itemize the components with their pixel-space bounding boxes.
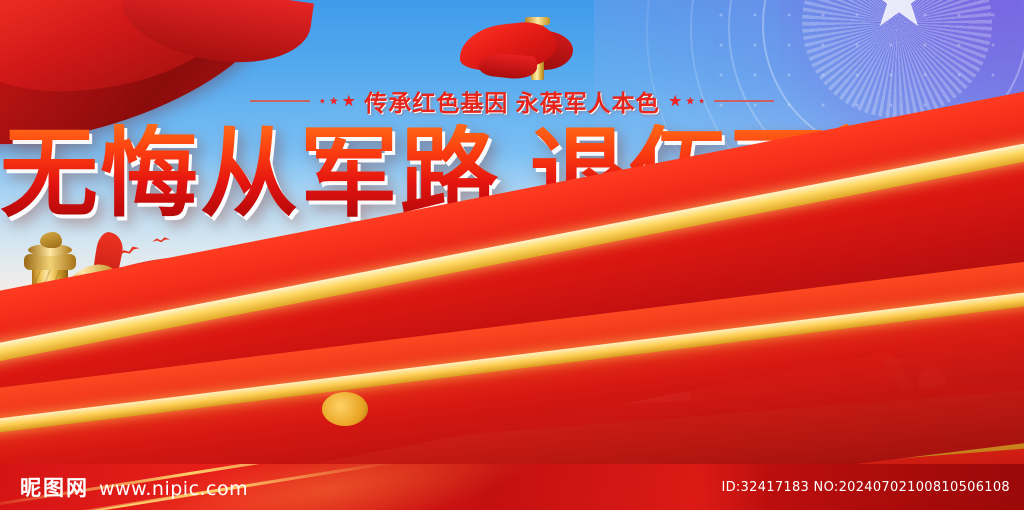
star-icon xyxy=(686,97,695,106)
header-rule-right xyxy=(714,100,774,102)
id-badge: ID:32417183 NO:20240702100810506108 xyxy=(695,464,1024,510)
watermark-url: www.nipic.com xyxy=(99,478,248,500)
header-banner: 传承红色基因 永葆军人本色 xyxy=(0,84,1024,118)
huabiao-base-ring xyxy=(24,254,76,270)
header-title: 传承红色基因 永葆军人本色 xyxy=(364,84,659,118)
peony-flower-icon xyxy=(322,392,368,426)
bottom-watermark-bar: 昵图网 www.nipic.com ID:32417183 NO:2024070… xyxy=(0,464,1024,510)
star-icon xyxy=(699,98,705,104)
red-flag-icon xyxy=(455,8,585,88)
flag-tail-cloth xyxy=(478,51,538,81)
watermark: 昵图网 www.nipic.com xyxy=(20,472,248,502)
star-icon xyxy=(342,95,355,108)
star-icon xyxy=(669,95,682,108)
huabiao-beast-icon xyxy=(40,232,62,248)
header-stars-left xyxy=(319,95,355,108)
star-icon xyxy=(329,97,338,106)
poster-canvas: 传承红色基因 永葆军人本色 无悔从军路 退伍不褪色 热烈欢送老兵 感谢老兵 一路… xyxy=(0,0,1024,510)
header-stars-right xyxy=(669,95,705,108)
watermark-brand-cn: 昵图网 xyxy=(20,472,89,502)
header-rule-left xyxy=(250,100,310,102)
star-icon xyxy=(319,98,325,104)
